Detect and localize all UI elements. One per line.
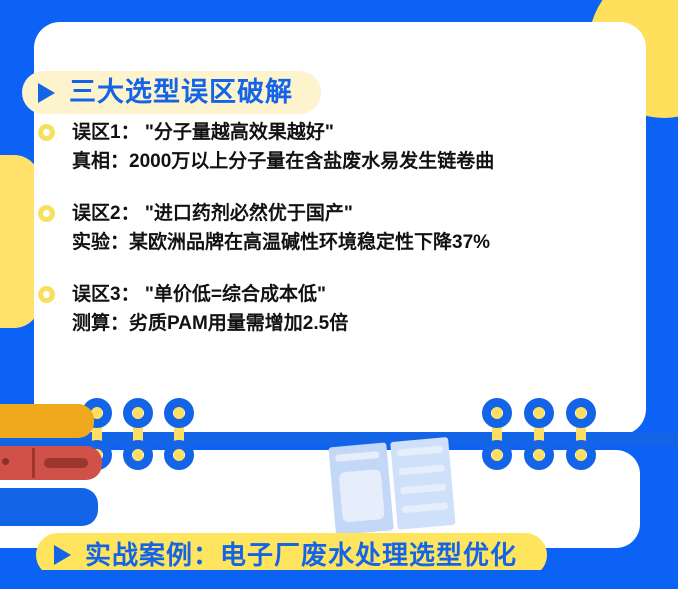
bullet-ring-icon [38,124,55,141]
list-item: 误区1： "分子量越高效果越好" 真相：2000万以上分子量在含盐废水易发生链卷… [34,118,634,177]
binding-ring-cap-top [164,398,194,428]
myth-heading: 误区1： "分子量越高效果越好" [72,118,634,147]
myth-list: 误区1： "分子量越高效果越好" 真相：2000万以上分子量在含盐废水易发生链卷… [34,118,634,361]
binding-ring-cap-bottom [164,440,194,470]
play-triangle-icon [38,83,55,103]
myth-detail: 测算：劣质PAM用量需增加2.5倍 [72,309,634,338]
section-title-band: 三大选型误区破解 [22,71,321,114]
book-red-dot [2,458,9,465]
bullet-ring-icon [38,205,55,222]
book-blue [0,488,98,526]
binding-ring [482,398,512,470]
binding-ring-cap-top [482,398,512,428]
binding-ring-cap-bottom [123,440,153,470]
binding-ring-cap-bottom [482,440,512,470]
binding-ring [123,398,153,470]
book-stack-illustration [0,396,112,541]
myth-heading: 误区2： "进口药剂必然优于国产" [72,199,634,228]
binding-ring [164,398,194,470]
book-red-notch [32,448,35,478]
binding-ring-cap-top [123,398,153,428]
list-item: 误区2： "进口药剂必然优于国产" 实验：某欧洲品牌在高温碱性环境稳定性下降37… [34,199,634,258]
decor-bottom-strip [0,570,678,589]
binding-ring-cap-top [566,398,596,428]
myth-detail: 真相：2000万以上分子量在含盐废水易发生链卷曲 [72,147,634,176]
binding-ring-cap-bottom [566,440,596,470]
myth-heading: 误区3： "单价低=综合成本低" [72,280,634,309]
binding-ring [566,398,596,470]
page-title: 三大选型误区破解 [69,79,293,106]
open-book-illustration [328,437,457,535]
list-item: 误区3： "单价低=综合成本低" 测算：劣质PAM用量需增加2.5倍 [34,280,634,339]
bullet-ring-icon [38,286,55,303]
poster-canvas: 三大选型误区破解 误区1： "分子量越高效果越好" 真相：2000万以上分子量在… [0,0,678,589]
binding-ring [524,398,554,470]
footer-title: 实战案例：电子厂废水处理选型优化 [85,542,517,568]
book-yellow [0,404,94,438]
myth-detail: 实验：某欧洲品牌在高温碱性环境稳定性下降37% [72,228,634,257]
doc-image-block [339,469,385,522]
play-triangle-icon [54,545,71,565]
binding-ring-cap-top [524,398,554,428]
book-red-label [44,458,88,468]
binding-ring-cap-bottom [524,440,554,470]
